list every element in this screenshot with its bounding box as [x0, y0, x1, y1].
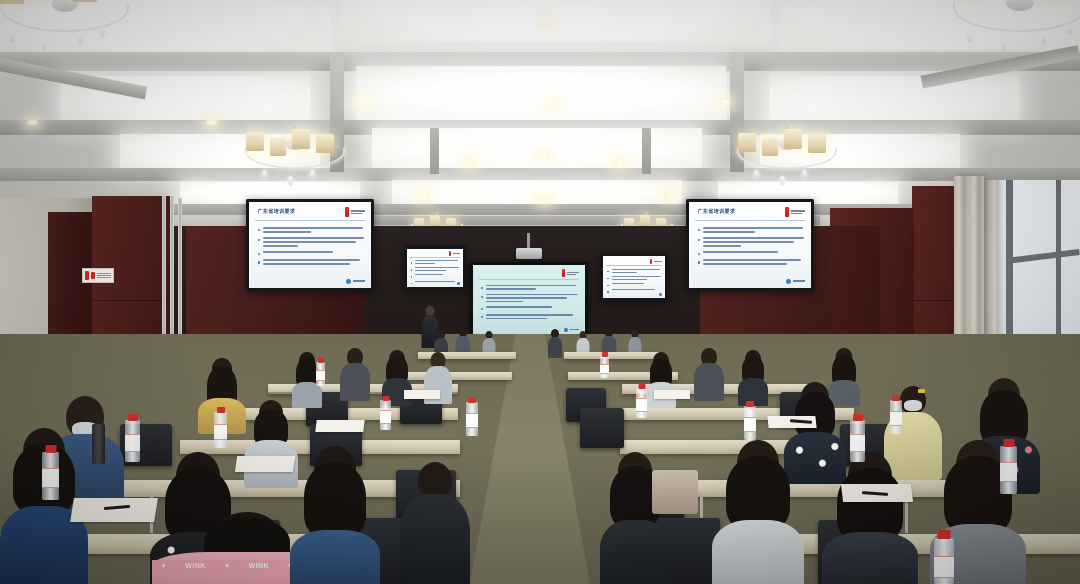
red-emblem-icon: [449, 251, 451, 256]
bullet-dot-icon: [698, 253, 701, 256]
bullet-text: [415, 274, 459, 278]
slide-divider: [606, 265, 662, 266]
logo-text: [351, 210, 365, 214]
water-bottle: [850, 420, 865, 462]
wink-label: WINK: [248, 563, 269, 570]
notepad: [70, 498, 158, 522]
chandelier-shade: [292, 129, 310, 149]
footer-text: [793, 280, 805, 282]
ceiling-downlight: [26, 119, 39, 126]
ceiling-downlight: [355, 98, 368, 105]
red-emblem-icon: [345, 207, 349, 217]
water-bottle: [125, 420, 140, 462]
chandelier-shade: [316, 134, 334, 153]
bullet-item: [258, 227, 364, 233]
screen-left-small[interactable]: [404, 246, 466, 290]
bullet-item: [607, 283, 661, 287]
blue-mark-icon: [659, 293, 662, 296]
bullet-item: [698, 251, 804, 256]
notepad: [315, 420, 364, 432]
blue-mark-icon: [786, 279, 791, 284]
bullet-text: [486, 285, 578, 290]
ceiling-light-panel: [340, 0, 770, 42]
body: [600, 520, 670, 584]
ceiling-downlight: [547, 101, 560, 108]
slide-logo: [562, 269, 579, 277]
slide-footer-logo: [346, 279, 365, 284]
chandelier-near-right: [945, 0, 1080, 81]
bullet-text: [263, 227, 364, 233]
heart-icon: ♥: [162, 563, 167, 570]
chandelier-near-left: [0, 0, 140, 80]
bottle-cap: [892, 395, 900, 401]
bullet-dot-icon: [258, 239, 261, 242]
bullet-item: [698, 227, 804, 233]
bottle-cap: [938, 530, 951, 539]
chandelier-crystal: [100, 26, 105, 37]
bullet-item: [607, 269, 661, 273]
chandelier-crystal: [288, 176, 293, 186]
slide-bullets: [607, 269, 661, 297]
attendee: [340, 348, 370, 400]
ceiling-downlight: [538, 152, 551, 159]
ceiling-light-panel: [356, 66, 726, 120]
hair: [726, 456, 790, 530]
bottle-cap: [128, 414, 138, 421]
water-bottle: [934, 538, 954, 584]
bullet-dot-icon: [607, 278, 609, 280]
attendee: [400, 462, 470, 584]
bullet-item: [258, 251, 364, 256]
ceiling-light-panel: [372, 128, 702, 170]
bullet-text: [703, 251, 804, 256]
body: [822, 532, 918, 584]
slide-logo: [785, 207, 805, 217]
ceiling-downlight: [718, 98, 731, 105]
water-bottle: [316, 362, 325, 386]
bullet-dot-icon: [481, 287, 483, 289]
ceiling-light-panel: [392, 180, 682, 206]
chandelier-crystal: [10, 32, 15, 43]
chandelier-crystal: [802, 170, 807, 179]
ceiling-beam: [430, 128, 439, 174]
bullet-dot-icon: [258, 253, 261, 256]
body: [290, 530, 380, 584]
slide-bullets: [411, 260, 460, 287]
chandelier-arms: [1, 4, 129, 32]
chandelier-mid-right: [728, 126, 846, 210]
conference-room-photo: 广东省培训要求: [0, 0, 1080, 584]
chandelier-shade: [0, 0, 24, 4]
bullet-dot-icon: [411, 283, 413, 285]
slide-footer-logo: [786, 279, 805, 284]
projector-mount: [527, 233, 530, 249]
slide-divider: [479, 279, 580, 280]
footer-text: [353, 280, 365, 282]
ceiling-downlight: [417, 191, 430, 198]
bullet-item: [698, 259, 804, 265]
chandelier-shade: [738, 133, 756, 152]
chandelier-shade: [246, 132, 264, 151]
bottle-label: [744, 417, 756, 432]
bullet-text: [612, 269, 661, 273]
body: [340, 363, 370, 401]
red-emblem-icon: [650, 259, 652, 264]
bullet-text: [486, 294, 578, 303]
bottle-cap: [638, 384, 645, 389]
slide-surface: 广东省培训要求: [249, 202, 371, 288]
water-bottle: [466, 402, 478, 436]
screen-right-large[interactable]: 广东省培训要求: [686, 199, 814, 291]
bullet-text: [612, 289, 661, 293]
ceiling-downlight: [463, 158, 476, 165]
water-bottle: [214, 412, 227, 448]
ceiling-downlight: [205, 119, 218, 126]
hair: [304, 462, 366, 538]
bullet-item: [607, 289, 661, 293]
bullet-text: [415, 260, 459, 264]
ceiling-beam: [642, 128, 651, 174]
bullet-dot-icon: [481, 316, 483, 318]
wink-label: WINK: [185, 563, 206, 570]
bullet-item: [481, 294, 578, 303]
screen-left-large[interactable]: 广东省培训要求: [246, 199, 374, 291]
water-bottle: [890, 400, 902, 434]
bullet-item: [411, 274, 460, 278]
bottle-label: [890, 411, 902, 426]
heart-icon: ♥: [225, 563, 230, 570]
attendee: [290, 446, 380, 584]
bullet-item: [607, 276, 661, 280]
red-emblem-icon: [562, 269, 565, 277]
slide-logo: [345, 207, 365, 217]
bottle-cap: [318, 358, 324, 363]
slide-surface: [603, 256, 665, 298]
chandelier-crystal: [754, 170, 759, 179]
chandelier-mid-left: [236, 126, 354, 210]
chandelier-shade: [270, 138, 286, 156]
bottle-label: [466, 413, 478, 428]
chandelier-crystal: [310, 170, 315, 179]
bottle-cap: [602, 352, 608, 357]
bullet-item: [411, 281, 460, 285]
screen-right-small[interactable]: [600, 253, 668, 301]
bullet-dot-icon: [607, 291, 609, 293]
water-bottle: [600, 356, 609, 378]
bullet-item: [258, 259, 364, 265]
logo-text: [791, 210, 805, 214]
chandelier-crystal: [78, 34, 83, 45]
bottle-cap: [746, 401, 754, 407]
attendee: [822, 452, 918, 584]
bullet-dot-icon: [411, 262, 413, 264]
slide-bullets: [481, 285, 578, 324]
body: [712, 520, 804, 584]
blue-mark-icon: [346, 279, 351, 284]
body: [694, 363, 724, 401]
bullet-dot-icon: [481, 308, 483, 310]
blue-mark-icon: [457, 282, 460, 285]
extinguisher-icon: [85, 271, 89, 280]
chandelier-crystal: [1001, 40, 1006, 51]
ceiling-downlight: [664, 191, 677, 198]
bullet-dot-icon: [607, 271, 609, 273]
logo-text: [567, 272, 579, 275]
slide-bullets: [258, 227, 364, 270]
bullet-text: [263, 251, 364, 256]
conference-chair: [580, 408, 624, 448]
notepad: [235, 456, 295, 472]
ceiling-downlight: [613, 158, 626, 165]
bullet-text: [415, 267, 459, 271]
bottle-cap: [853, 414, 863, 421]
hair: [837, 468, 903, 542]
ceiling-downlight: [538, 196, 551, 203]
bullet-dot-icon: [411, 269, 413, 271]
slide-divider: [410, 257, 460, 258]
bullet-item: [698, 237, 804, 247]
bottle-cap: [382, 396, 389, 401]
fire-safety-sign: [82, 268, 114, 283]
bullet-text: [263, 237, 364, 247]
bullet-dot-icon: [698, 229, 701, 232]
bottle-cap: [468, 397, 476, 403]
attendee: [548, 329, 562, 356]
red-emblem-icon: [785, 207, 789, 217]
water-bottle: [636, 388, 647, 418]
bullet-text: [415, 281, 459, 285]
water-bottle: [1000, 446, 1017, 494]
attendee: [712, 440, 804, 584]
bullet-dot-icon: [698, 239, 701, 242]
bullet-item: [481, 306, 578, 310]
chandelier-crystal: [42, 40, 47, 51]
bullet-text: [486, 314, 578, 319]
bullet-item: [411, 267, 460, 271]
slide-footer-logo: [659, 293, 662, 296]
bullet-text: [612, 283, 661, 287]
bullet-text: [703, 237, 804, 247]
logo-text: [453, 253, 460, 254]
notepad: [654, 390, 690, 399]
training-table: [404, 372, 512, 380]
bottle-label: [380, 410, 391, 424]
bottle-label: [600, 364, 609, 374]
bullet-text: [612, 276, 661, 280]
slide-title: 广东省培训要求: [698, 208, 736, 215]
bottle-label: [316, 370, 325, 381]
bottle-label: [42, 468, 59, 488]
chandelier-crystal: [967, 32, 972, 43]
slide-logo: [449, 251, 460, 256]
bullet-dot-icon: [481, 296, 483, 298]
bullet-text: [486, 306, 578, 310]
bottle-label: [636, 398, 647, 412]
chandelier-crystal: [1067, 24, 1072, 35]
sign-text: [97, 273, 111, 278]
slide-title: 广东省培训要求: [258, 208, 296, 215]
bullet-item: [258, 237, 364, 247]
bullet-item: [481, 285, 578, 290]
slide-bullets: [698, 227, 804, 270]
slide-footer-logo: [457, 282, 460, 285]
chandelier-crystal: [780, 176, 785, 186]
bullet-text: [703, 259, 804, 265]
chandelier-crystal: [1041, 34, 1046, 45]
bottle-label: [214, 424, 227, 440]
slide-logo: [650, 259, 662, 264]
face-mask: [904, 400, 922, 411]
bullet-dot-icon: [607, 285, 609, 287]
notepad: [404, 390, 440, 399]
chandelier-crystal: [262, 170, 267, 179]
chandelier-shade: [762, 138, 778, 156]
window-mullion: [1006, 249, 1080, 264]
bottle-label: [934, 556, 954, 578]
vacuum-flask: [92, 424, 105, 464]
water-bottle: [42, 452, 59, 500]
water-bottle: [380, 400, 391, 430]
body: [400, 494, 470, 584]
bottle-label: [125, 434, 140, 452]
ceiling-downlight: [540, 18, 553, 25]
bottle-label: [850, 434, 865, 452]
bullet-dot-icon: [698, 261, 701, 264]
slide-surface: 广东省培训要求: [689, 202, 811, 288]
bullet-item: [411, 260, 460, 264]
bullet-dot-icon: [411, 276, 413, 278]
chandelier-shade: [808, 134, 826, 153]
handbag: [652, 470, 698, 514]
slide-surface: [407, 249, 463, 287]
water-bottle: [744, 406, 756, 440]
slide-divider: [695, 220, 805, 221]
bullet-dot-icon: [258, 261, 261, 264]
attendee: [694, 348, 724, 400]
bottle-cap: [217, 407, 225, 413]
bottle-label: [1000, 462, 1017, 482]
logo-text: [654, 261, 662, 262]
body: [548, 337, 562, 358]
extinguisher-icon: [91, 272, 95, 279]
bullet-dot-icon: [258, 229, 261, 232]
chandelier-shade: [784, 129, 802, 149]
chandelier-shade: [72, 0, 97, 2]
ceiling-light-panel: [770, 76, 1020, 122]
attendee: [738, 350, 768, 402]
bullet-item: [481, 314, 578, 319]
bullet-text: [703, 227, 804, 233]
chandelier-arms: [953, 2, 1080, 32]
slide-divider: [255, 220, 365, 221]
bottle-cap: [45, 445, 56, 453]
bottle-cap: [1003, 439, 1014, 447]
ceiling-projector: [516, 248, 542, 259]
hair-clip: [918, 389, 925, 393]
bullet-text: [263, 259, 364, 265]
